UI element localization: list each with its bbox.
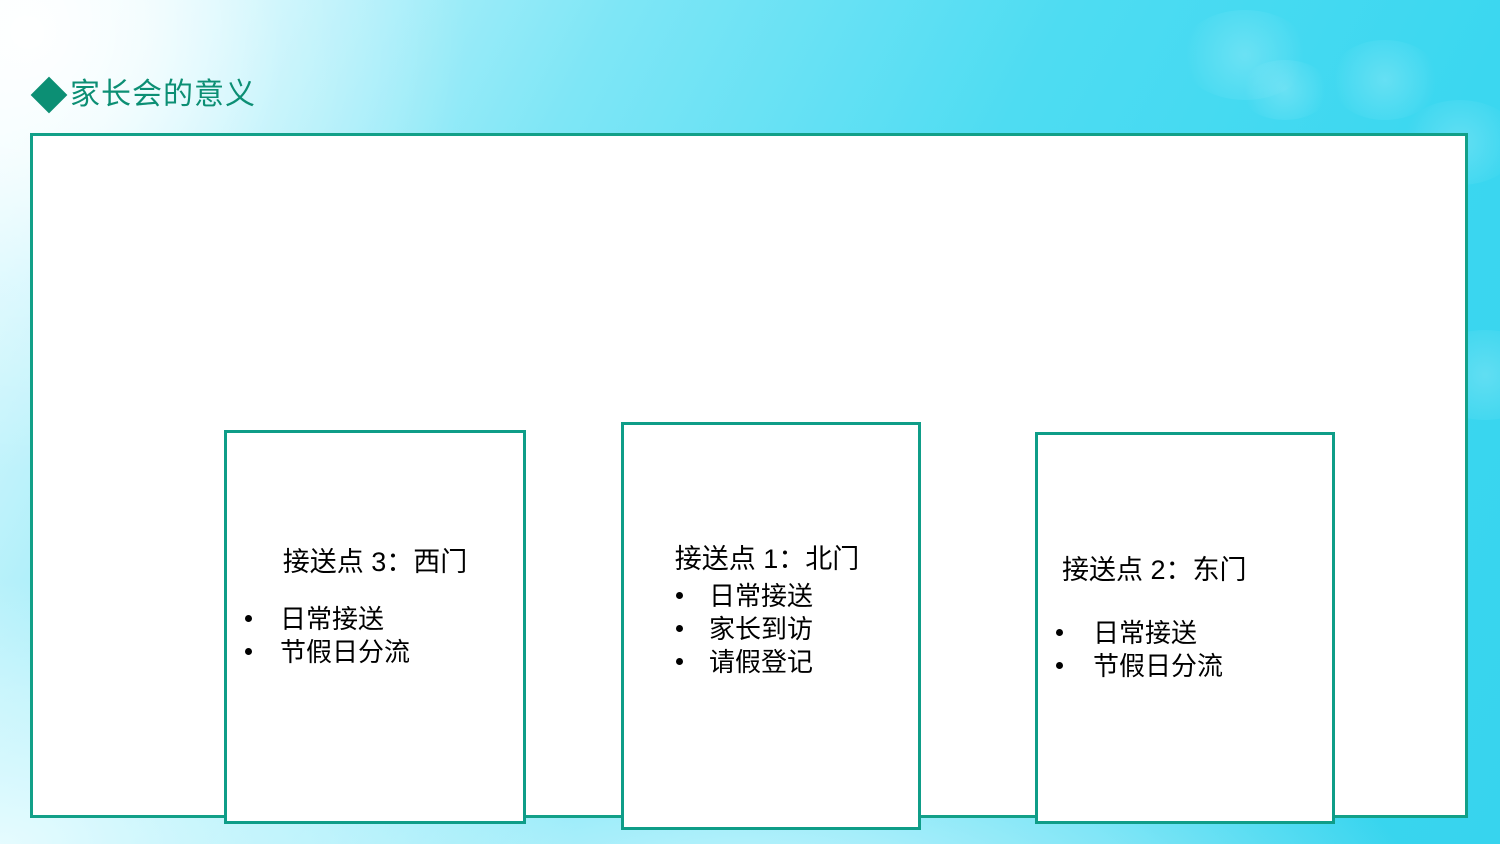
diamond-marker-icon bbox=[31, 77, 68, 114]
list-item-label: 家长到访 bbox=[709, 613, 813, 646]
slide-title: 家长会的意义 bbox=[36, 78, 256, 112]
content-frame: 接送点 3：西门 日常接送 节假日分流 接送点 1：北门 bbox=[30, 133, 1468, 818]
card-title: 接送点 3：西门 bbox=[227, 545, 523, 579]
bullet-dot-icon bbox=[676, 592, 683, 599]
pickup-point-card-east[interactable]: 接送点 2：东门 日常接送 节假日分流 bbox=[1035, 432, 1335, 824]
list-item: 日常接送 bbox=[1056, 617, 1332, 650]
bullet-dot-icon bbox=[676, 625, 683, 632]
card-content: 接送点 3：西门 日常接送 节假日分流 bbox=[227, 545, 523, 669]
bullet-dot-icon bbox=[676, 658, 683, 665]
pickup-point-card-north[interactable]: 接送点 1：北门 日常接送 家长到访 请假登记 bbox=[621, 422, 921, 830]
list-item: 日常接送 bbox=[676, 580, 918, 613]
card-bullet-list: 日常接送 节假日分流 bbox=[227, 603, 523, 669]
bullet-dot-icon bbox=[1056, 629, 1063, 636]
list-item: 日常接送 bbox=[245, 603, 523, 636]
list-item: 节假日分流 bbox=[1056, 650, 1332, 683]
list-item-label: 日常接送 bbox=[709, 580, 813, 613]
list-item: 家长到访 bbox=[676, 613, 918, 646]
background-blob bbox=[1240, 60, 1330, 120]
list-item-label: 节假日分流 bbox=[280, 636, 410, 669]
background-blob bbox=[1180, 10, 1310, 100]
list-item-label: 日常接送 bbox=[280, 603, 384, 636]
background-blob bbox=[1330, 40, 1440, 120]
list-item-label: 节假日分流 bbox=[1093, 650, 1223, 683]
card-title: 接送点 2：东门 bbox=[1038, 553, 1332, 587]
bullet-dot-icon bbox=[245, 648, 252, 655]
list-item-label: 日常接送 bbox=[1093, 617, 1197, 650]
list-item: 请假登记 bbox=[676, 646, 918, 679]
bullet-dot-icon bbox=[1056, 662, 1063, 669]
slide-canvas: 家长会的意义 接送点 3：西门 日常接送 节假日分流 bbox=[0, 0, 1500, 844]
bullet-dot-icon bbox=[245, 615, 252, 622]
slide-title-text: 家长会的意义 bbox=[70, 78, 256, 112]
card-bullet-list: 日常接送 家长到访 请假登记 bbox=[624, 580, 918, 679]
pickup-point-card-west[interactable]: 接送点 3：西门 日常接送 节假日分流 bbox=[224, 430, 526, 824]
card-content: 接送点 1：北门 日常接送 家长到访 请假登记 bbox=[624, 542, 918, 679]
card-title: 接送点 1：北门 bbox=[624, 542, 918, 576]
list-item-label: 请假登记 bbox=[709, 646, 813, 679]
card-content: 接送点 2：东门 日常接送 节假日分流 bbox=[1038, 553, 1332, 683]
card-bullet-list: 日常接送 节假日分流 bbox=[1038, 617, 1332, 683]
list-item: 节假日分流 bbox=[245, 636, 523, 669]
